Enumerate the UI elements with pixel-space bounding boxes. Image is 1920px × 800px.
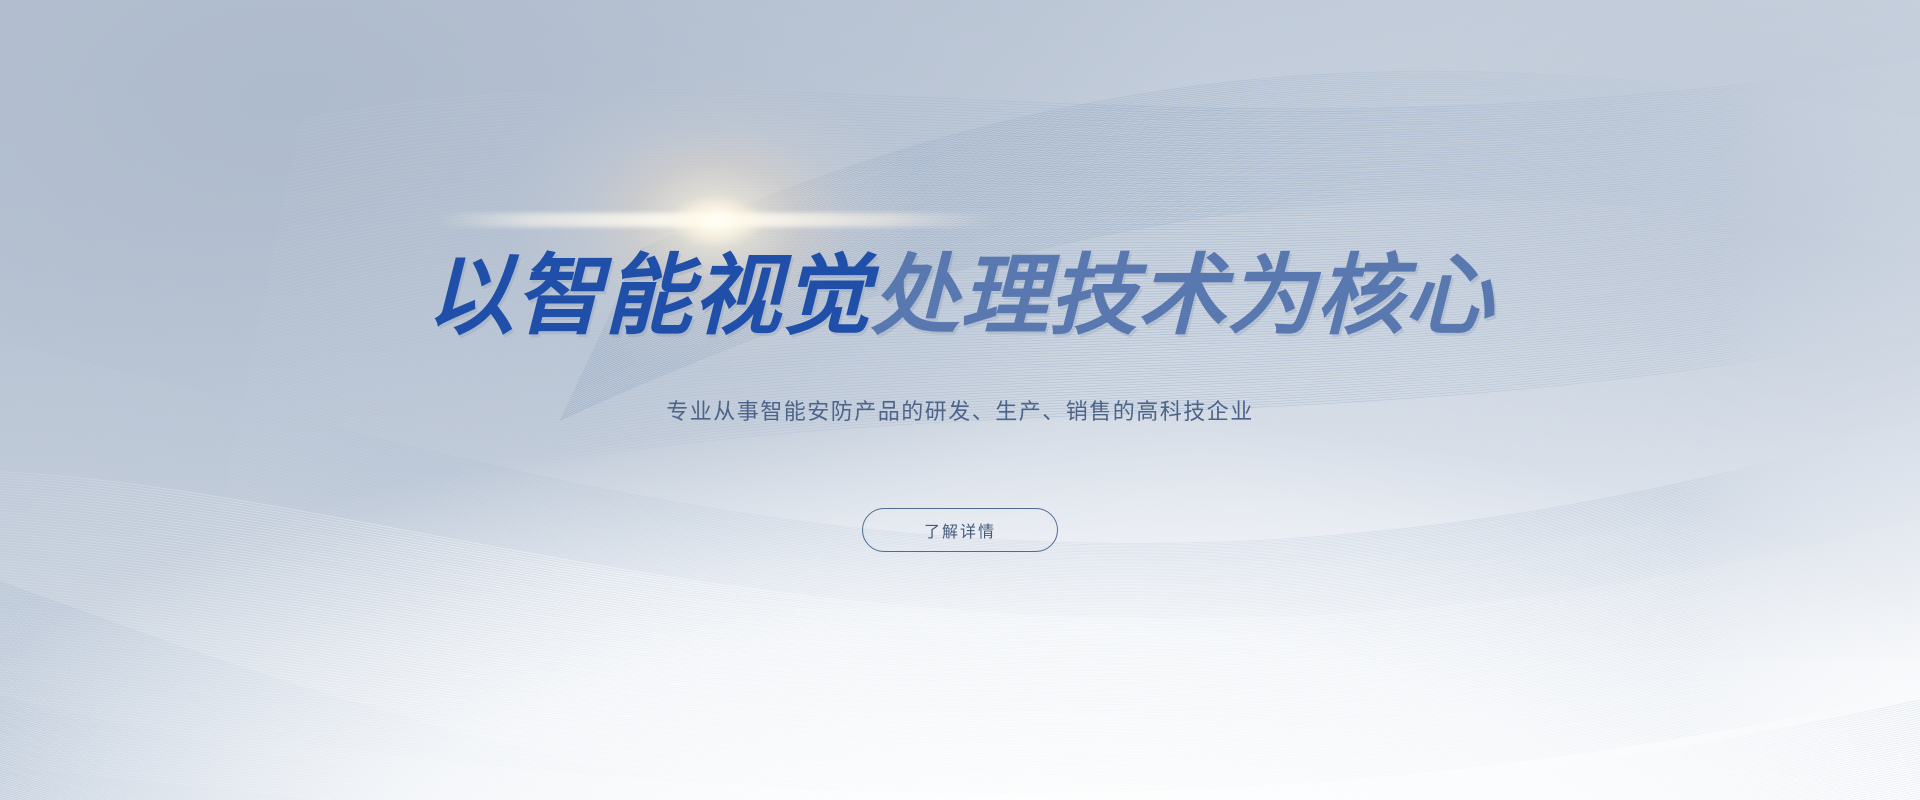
page-subtitle: 专业从事智能安防产品的研发、生产、销售的高科技企业 xyxy=(666,398,1254,429)
light-flare-core-icon xyxy=(672,198,762,244)
background-tint-bottom xyxy=(0,420,1920,800)
learn-more-button[interactable]: 了解详情 xyxy=(862,508,1058,552)
hero-banner: 以智能视觉处理技术为核心 专业从事智能安防产品的研发、生产、销售的高科技企业 了… xyxy=(0,0,1920,800)
hero-content: 以智能视觉处理技术为核心 专业从事智能安防产品的研发、生产、销售的高科技企业 了… xyxy=(0,0,1920,800)
headline-segment-primary: 以智能视觉 xyxy=(426,244,871,347)
page-title: 以智能视觉处理技术为核心 xyxy=(426,252,1494,340)
light-flare-streak-icon xyxy=(435,213,995,227)
headline-segment-secondary: 处理技术为核心 xyxy=(871,244,1494,347)
